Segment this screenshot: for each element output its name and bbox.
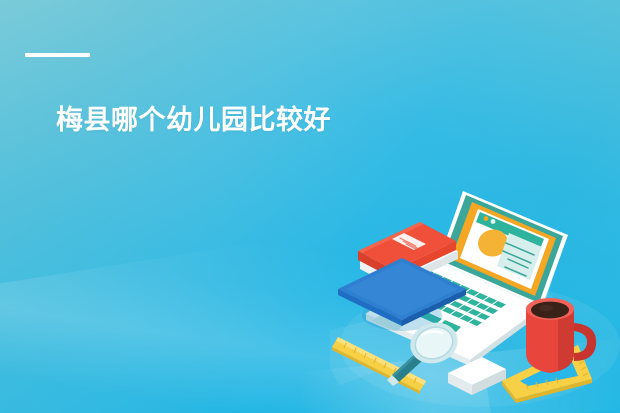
desk-study-illustration bbox=[330, 185, 620, 413]
banner: 梅县哪个幼儿园比较好 bbox=[0, 0, 620, 413]
title-divider-rule bbox=[25, 53, 90, 57]
page-title: 梅县哪个幼儿园比较好 bbox=[56, 105, 331, 136]
